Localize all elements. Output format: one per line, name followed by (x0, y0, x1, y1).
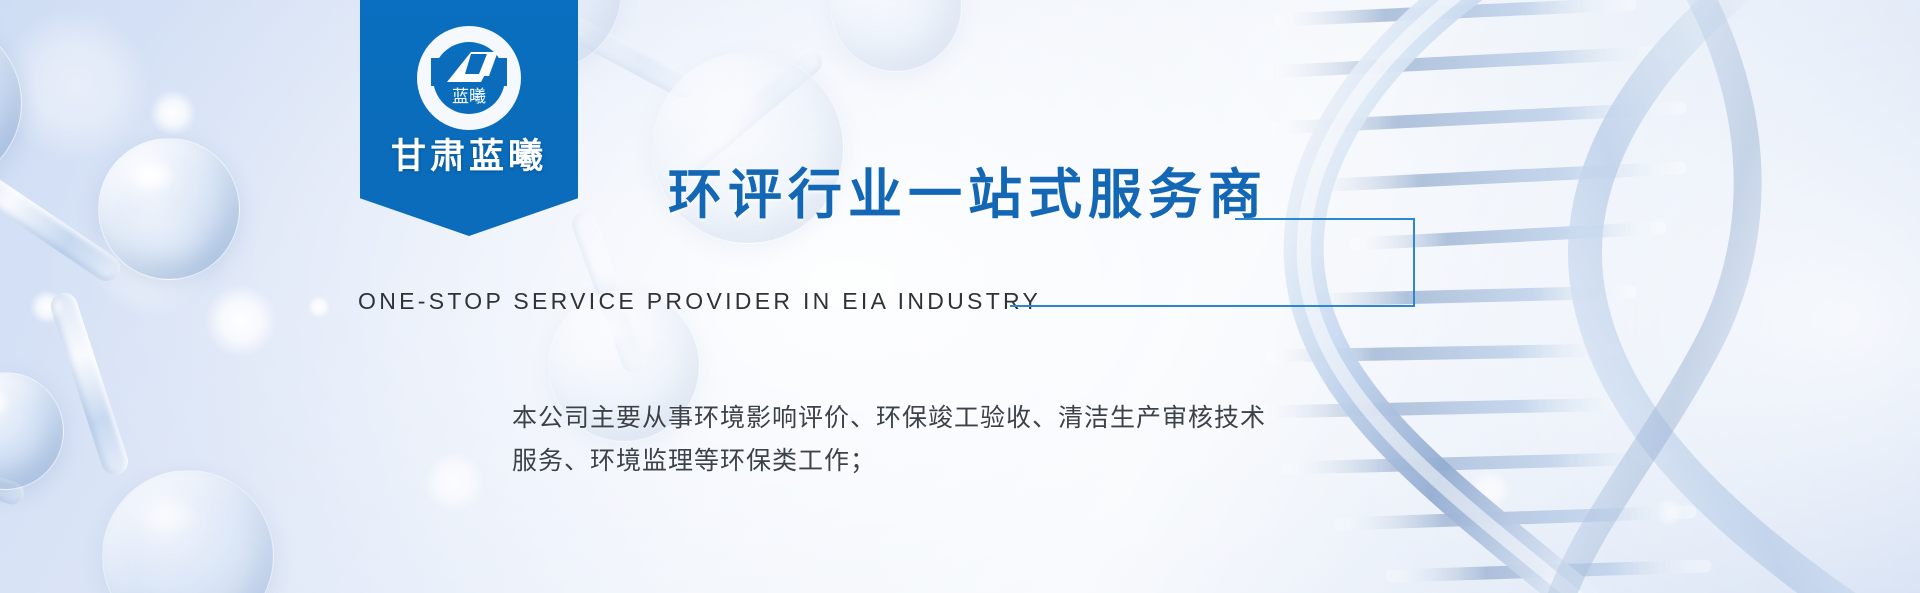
bokeh-dot (205, 285, 277, 357)
molecule-atom (0, 18, 22, 188)
brand-ribbon[interactable]: 蓝曦 甘肃蓝曦 (360, 0, 578, 236)
molecule-atom (98, 138, 240, 280)
company-description: 本公司主要从事环境影响评价、环保竣工验收、清洁生产审核技术 服务、环境监理等环保… (512, 396, 1266, 482)
bokeh-dot (92, 196, 212, 316)
molecule-bond (47, 289, 131, 478)
bracket-top-line (1235, 218, 1415, 220)
svg-text:蓝曦: 蓝曦 (452, 87, 486, 107)
bracket-vertical-line (1413, 218, 1415, 307)
molecule-bond (0, 152, 125, 286)
company-logo-icon: 蓝曦 (409, 18, 529, 138)
molecule-graphic (0, 0, 350, 550)
page-title: 环评行业一站式服务商 (668, 150, 1268, 229)
bokeh-dot (0, 10, 150, 160)
subtitle: ONE-STOP SERVICE PROVIDER IN EIA INDUSTR… (358, 288, 1041, 315)
bokeh-dot (30, 290, 64, 324)
dna-helix-graphic (1160, 0, 1920, 593)
bokeh-dot (1655, 498, 1683, 526)
bokeh-dot (308, 296, 330, 318)
bokeh-dot (1470, 470, 1510, 510)
molecule-bond (0, 443, 27, 508)
ribbon-company-name: 甘肃蓝曦 (360, 128, 578, 179)
molecule-atom (0, 372, 64, 490)
subtitle-rule (1010, 305, 1415, 307)
molecule-atom (102, 470, 274, 593)
molecule-atom (830, 0, 962, 72)
bokeh-dot (150, 90, 196, 136)
hero-banner: 蓝曦 甘肃蓝曦 环评行业一站式服务商 ONE-STOP SERVICE PROV… (0, 0, 1920, 593)
bokeh-dot (424, 452, 484, 512)
